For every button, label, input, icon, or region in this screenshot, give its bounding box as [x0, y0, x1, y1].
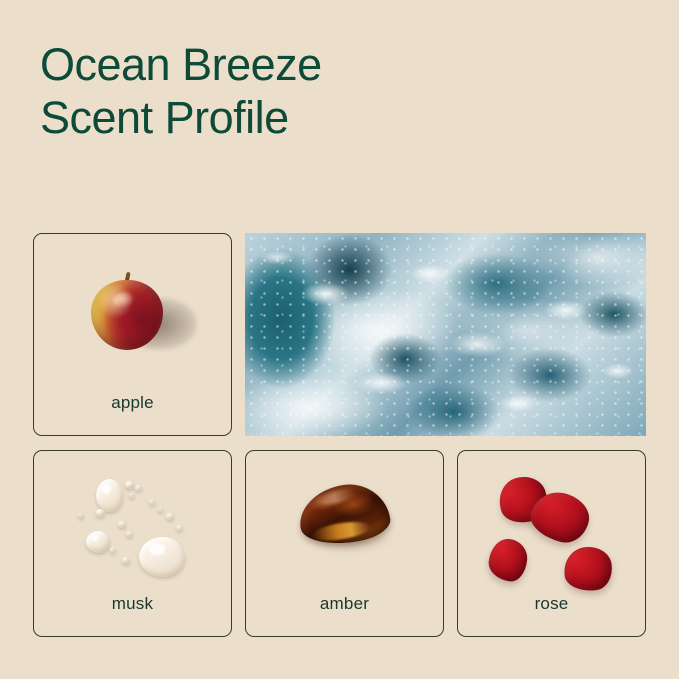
page-title: Ocean Breeze Scent Profile — [40, 38, 322, 144]
droplet — [96, 509, 105, 517]
scent-card-amber[interactable]: amber — [245, 450, 444, 637]
droplet — [122, 557, 130, 564]
scent-card-label-apple: apple — [34, 393, 231, 413]
droplet — [176, 525, 183, 531]
scent-card-apple[interactable]: apple — [33, 233, 232, 436]
scent-card-musk[interactable]: musk — [33, 450, 232, 637]
amber-stone-illustration — [246, 451, 443, 590]
droplet — [149, 499, 155, 505]
apple-highlight — [113, 292, 135, 308]
rose-petal — [487, 537, 529, 583]
droplet — [129, 493, 135, 498]
scent-card-rose[interactable]: rose — [457, 450, 646, 637]
droplet — [166, 513, 174, 520]
droplet — [118, 521, 126, 528]
droplet — [158, 507, 163, 512]
water-droplets-illustration — [34, 451, 231, 590]
apple-illustration — [34, 234, 231, 389]
droplet — [86, 531, 110, 553]
droplet — [139, 537, 185, 577]
scent-profile-page: Ocean Breeze Scent Profile apple — [0, 0, 679, 679]
droplet — [125, 481, 134, 489]
scent-card-label-rose: rose — [458, 594, 645, 614]
ocean-spray-layer — [245, 233, 646, 436]
droplet — [110, 547, 116, 553]
droplet — [78, 513, 84, 518]
scent-card-label-amber: amber — [246, 594, 443, 614]
droplet — [135, 485, 142, 491]
rose-petals-illustration — [458, 451, 645, 590]
scent-card-label-musk: musk — [34, 594, 231, 614]
rose-petal — [561, 544, 615, 594]
droplet — [96, 479, 123, 512]
droplet — [126, 531, 133, 537]
ocean-wave-photo[interactable] — [245, 233, 646, 436]
